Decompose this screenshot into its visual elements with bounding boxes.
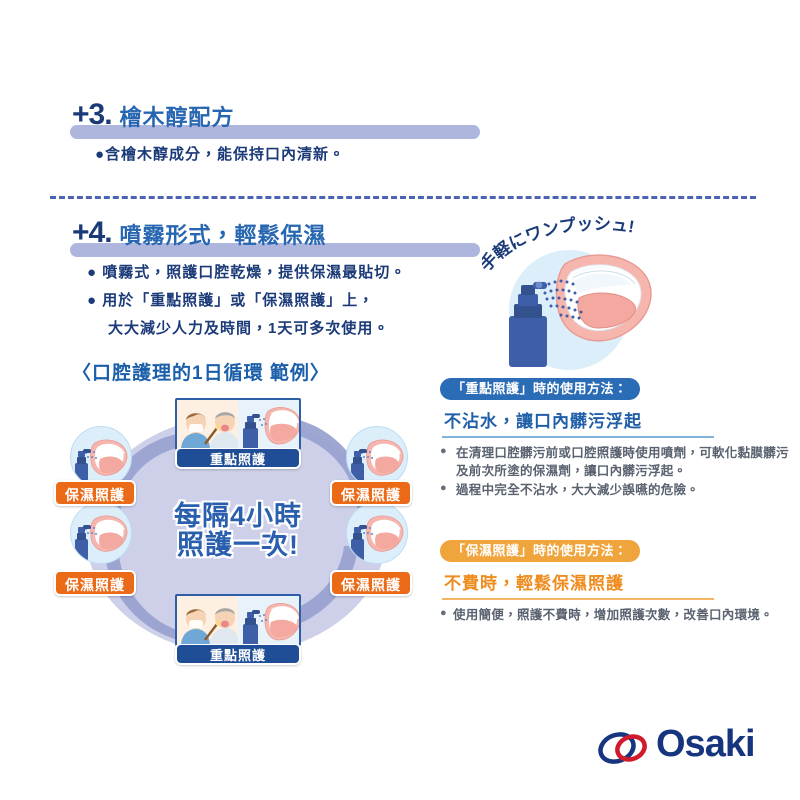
moisture-care-pill-4: 保濕照護 — [330, 570, 412, 596]
cycle-center-message: 每隔4小時 照護一次! — [174, 502, 302, 560]
focused-care-rule — [442, 436, 714, 438]
section-4-bullet-1: ● 噴霧式，照護口腔乾燥，提供保濕最貼切。 — [87, 261, 406, 282]
moisture-care-pill-2: 保濕照護 — [54, 570, 136, 596]
focused-care-label-top: 重點照護 — [175, 447, 301, 469]
spray-circle-icon-1 — [70, 426, 132, 488]
spray-circle-icon-2 — [70, 502, 132, 564]
moisture-care-pill-3: 保濕照護 — [330, 480, 412, 506]
care-photo-pair-bottom — [175, 594, 301, 646]
spray-bottle-icon — [509, 282, 547, 367]
care-photo-pair-top — [175, 398, 301, 450]
section-3-title: 檜木醇配方 — [120, 107, 235, 129]
moisture-care-usage-heading: 不費時，輕鬆保濕照護 — [444, 569, 773, 594]
section-4-title: 噴霧形式，輕鬆保濕 — [120, 225, 327, 247]
product-info-page: +3. 檜木醇配方 ●含檜木醇成分，能保持口內清新。 +4. 噴霧形式，輕鬆保濕… — [0, 0, 800, 800]
cycle-center-line-2: 照護一次! — [174, 531, 302, 560]
focused-care-card-bottom: 重點照護 — [175, 594, 301, 665]
focused-care-usage-list: 在清理口腔髒污前或口腔照護時使用噴劑，可軟化黏膜髒污及前次所塗的保濕劑，讓口內髒… — [440, 444, 800, 499]
section-3-number: +3. — [72, 100, 112, 130]
focused-care-usage-item-1: 在清理口腔髒污前或口腔照護時使用噴劑，可軟化黏膜髒污及前次所塗的保濕劑，讓口內髒… — [440, 444, 800, 480]
section-4-bullet-2-cont: 大大減少人力及時間，1天可多次使用。 — [108, 317, 389, 338]
caregiver-patient-photo-top — [177, 400, 238, 448]
section-4-number: +4. — [72, 218, 112, 248]
focused-care-usage-tag: 「重點照護」時的使用方法： — [440, 378, 640, 400]
osaki-logo: Osaki — [596, 726, 766, 772]
osaki-mark-icon — [596, 726, 654, 770]
focused-care-card-top: 重點照護 — [175, 398, 301, 469]
moisture-care-rule — [442, 598, 714, 600]
section-4-bullet-2: ● 用於「重點照護」或「保濕照護」上， — [87, 289, 374, 310]
focused-care-label-bottom: 重點照護 — [175, 643, 301, 665]
section-3-heading: +3. 檜木醇配方 — [72, 100, 235, 130]
cycle-diagram-title: 〈口腔護理的1日循環 範例〉 — [72, 358, 330, 385]
section-4-heading: +4. 噴霧形式，輕鬆保濕 — [72, 218, 327, 248]
caregiver-patient-photo-bottom — [177, 596, 238, 644]
osaki-wordmark: Osaki — [656, 723, 755, 766]
focused-care-usage-panel: 「重點照護」時的使用方法： 不沾水，讓口內髒污浮起 在清理口腔髒污前或口腔照護時… — [440, 378, 800, 500]
moisture-care-usage-list: 使用簡便，照護不費時，增加照護次數，改善口內環境。 — [440, 606, 773, 624]
spray-circle-icon-4 — [346, 502, 408, 564]
focused-care-usage-heading: 不沾水，讓口內髒污浮起 — [444, 407, 800, 432]
moisture-care-usage-tag: 「保濕照護」時的使用方法： — [440, 540, 640, 562]
section-divider — [50, 196, 756, 199]
moisture-care-pill-1: 保濕照護 — [54, 480, 136, 506]
cycle-center-line-1: 每隔4小時 — [174, 502, 302, 531]
spray-hero-illustration: 手軽にワンプッシュ! — [487, 232, 677, 350]
section-3-bullet-1: ●含檜木醇成分，能保持口內清新。 — [95, 143, 345, 164]
spray-mouth-photo-bottom — [238, 596, 299, 644]
mouth-spray-icon — [487, 232, 677, 367]
moisture-care-usage-panel: 「保濕照護」時的使用方法： 不費時，輕鬆保濕照護 使用簡便，照護不費時，增加照護… — [440, 540, 773, 625]
focused-care-usage-item-2: 過程中完全不沾水，大大減少誤嚥的危險。 — [440, 481, 800, 499]
spray-mouth-photo-top — [238, 400, 299, 448]
daily-care-cycle-diagram: 每隔4小時 照護一次! — [58, 398, 418, 670]
moisture-care-usage-item-1: 使用簡便，照護不費時，增加照護次數，改善口內環境。 — [440, 606, 773, 624]
spray-circle-icon-3 — [346, 426, 408, 488]
